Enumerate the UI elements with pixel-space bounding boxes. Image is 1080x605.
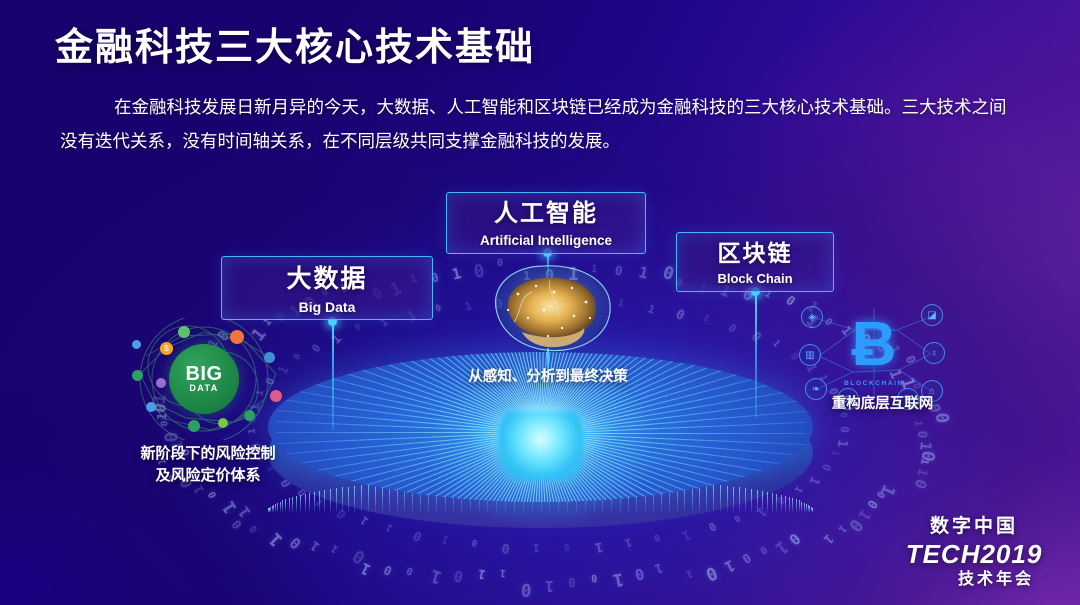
disc-rim-tick [806, 504, 807, 512]
binary-digit: 1 [916, 440, 935, 451]
logo-line2: TECH2019 [894, 539, 1054, 569]
disc-rim-tick [789, 497, 790, 512]
binary-digit: 0 [673, 307, 687, 324]
binary-digit: 1 [821, 531, 837, 547]
binary-digit: 1 [476, 567, 486, 583]
binary-digit: 0 [353, 323, 364, 334]
page-title: 金融科技三大核心技术基础 [55, 16, 535, 71]
card-blockchain-title: 区块链 [677, 242, 833, 265]
caption-bigdata: 新阶段下的风险控制 及风险定价体系 [104, 443, 312, 487]
binary-digit: 0 [837, 426, 850, 433]
card-ai-title: 人工智能 [447, 202, 645, 226]
disc-rim-tick [285, 499, 286, 512]
blockchain-icon-cluster: Ƀ BLOCKCHAIN ◈ ◪ ▥ ♁ ❧ ⌂ ⚖ ☻ [793, 300, 955, 408]
binary-digit: 1 [450, 265, 463, 285]
disc-rim-tick [751, 489, 752, 512]
disc-rim-tick [336, 488, 337, 512]
binary-digit: 1 [428, 565, 444, 587]
card-artificial-intelligence[interactable]: 人工智能 Artificial Intelligence [446, 192, 646, 254]
card-big-data-title: 大数据 [222, 267, 432, 292]
event-logo: 数字中国 TECH2019 技术年会 [894, 515, 1054, 591]
caption-ai: 从感知、分析到最终决策 [428, 366, 668, 388]
disc-rim-tick [324, 490, 325, 512]
binary-digit: 1 [835, 523, 847, 535]
binary-digit: 1 [876, 481, 899, 499]
binary-digit: 0 [702, 562, 720, 585]
binary-digit: 1 [684, 568, 694, 580]
bigdata-node-dot [188, 420, 200, 432]
disc-rim-tick [330, 489, 331, 512]
caption-bigdata-line2: 及风险定价体系 [104, 465, 312, 487]
binary-digit: 1 [915, 467, 932, 479]
disc-rim-tick [354, 486, 355, 512]
binary-digit: 1 [770, 339, 781, 350]
body-paragraph: 在金融科技发展日新月异的今天，大数据、人工智能和区块链已经成为金融科技的三大核心… [60, 90, 1022, 158]
binary-digit: 1 [637, 263, 650, 283]
bigdata-node-dot [132, 370, 143, 381]
disc-rim-tick [801, 502, 802, 512]
binary-digit: 1 [855, 506, 875, 524]
binary-digit: 0 [520, 578, 532, 599]
disc-rim-tick [296, 496, 297, 512]
disc-rim-tick [804, 503, 805, 512]
binary-digit: 1 [722, 556, 738, 576]
disc-rim-tick [757, 490, 758, 512]
disc-rim-tick [305, 494, 306, 512]
disc-rim-tick [776, 494, 777, 512]
disc-rim-tick [796, 499, 797, 512]
binary-digit: 1 [646, 302, 657, 316]
bigdata-node-dot [230, 330, 244, 344]
binary-digit: 0 [591, 572, 598, 584]
logo-line3: 技术年会 [938, 569, 1054, 591]
binary-digit: 1 [913, 420, 924, 426]
binary-digit: 1 [235, 503, 255, 521]
disc-rim-tick [368, 484, 369, 512]
binary-digit: 0 [865, 498, 882, 512]
disc-rim-tick [292, 497, 293, 512]
binary-digit: 0 [406, 564, 416, 576]
caption-blockchain: 重构底层互联网 [800, 393, 965, 415]
bigdata-node-dot [132, 340, 141, 349]
card-ai-subtitle: Artificial Intelligence [447, 234, 645, 248]
binary-digit: 1 [829, 450, 840, 458]
card-big-data[interactable]: 大数据 Big Data [221, 256, 433, 320]
binary-digit: 0 [915, 430, 930, 438]
bigdata-node-chart [244, 410, 255, 421]
disc-rim-tick [772, 493, 773, 512]
binary-digit: 0 [819, 462, 833, 473]
binary-digit: 0 [248, 523, 260, 535]
disc-rim-tick [781, 495, 782, 512]
disc-rim-tick [314, 492, 315, 512]
binary-digit: 1 [612, 568, 626, 590]
disc-rim-tick [767, 492, 768, 512]
card-big-data-subtitle: Big Data [222, 300, 432, 314]
binary-digit: 1 [219, 497, 242, 516]
bigdata-node-dot [264, 352, 275, 363]
bigdata-icon-cluster: BIG DATA $ [126, 318, 296, 440]
blockchain-node-network-icon: ◈ [801, 306, 823, 328]
disc-rim-tick [720, 485, 721, 512]
disc-rim-tick [309, 493, 310, 512]
disc-rim-tick [289, 498, 290, 512]
slide-canvas: 1010110100101101001011010010110100101101… [0, 0, 1080, 605]
disc-rim-tick [799, 500, 800, 512]
disc-rim-tick [745, 488, 746, 512]
disc-rim-tick [319, 491, 320, 512]
blockchain-label: BLOCKCHAIN [831, 380, 917, 387]
bigdata-node-dot [178, 326, 190, 338]
binary-digit: 1 [918, 457, 930, 465]
disc-rim-tick [792, 498, 793, 512]
binary-digit: 1 [545, 577, 554, 595]
bigdata-badge-line2: DATA [189, 383, 218, 393]
binary-digit: 0 [381, 562, 394, 579]
binary-digit: 1 [653, 560, 665, 577]
disc-rim-tick [277, 503, 278, 512]
card-block-chain[interactable]: 区块链 Block Chain [676, 232, 834, 292]
bigdata-badge-line1: BIG [185, 365, 222, 383]
disc-rim-tick [361, 485, 362, 512]
connector-line-bigdata [332, 322, 334, 430]
bigdata-node-dot [218, 418, 228, 428]
binary-digit: 0 [844, 515, 866, 536]
binary-digit: 0 [873, 489, 886, 499]
disc-rim-tick [282, 500, 283, 512]
blockchain-node-bank-icon: ▥ [799, 344, 821, 366]
bigdata-badge: BIG DATA [169, 344, 239, 414]
bitcoin-b-glyph: Ƀ [845, 308, 903, 382]
disc-rim-tick [280, 502, 281, 512]
blockchain-node-hand-icon: ♁ [923, 342, 945, 364]
connector-line-blockchain [755, 292, 757, 418]
binary-digit: 0 [633, 565, 646, 585]
binary-digit: 0 [452, 566, 465, 586]
bigdata-node-dot [146, 402, 156, 412]
ai-brain-illustration [478, 258, 626, 362]
binary-digit: 0 [910, 477, 930, 492]
binary-digit: 0 [725, 321, 738, 335]
disc-rim-tick [785, 496, 786, 512]
binary-digit: 1 [357, 559, 373, 579]
disc-rim-tick [275, 504, 276, 512]
binary-digit: 1 [701, 313, 711, 324]
binary-digit: 0 [206, 490, 219, 500]
binary-digit: 1 [463, 299, 473, 313]
disc-rim-tick [762, 491, 763, 512]
binary-digit: 0 [660, 263, 676, 285]
disc-rim-tick [713, 484, 714, 512]
binary-digit: 0 [228, 517, 244, 532]
bigdata-node-lock [270, 390, 282, 402]
blockchain-node-chart-icon: ◪ [921, 304, 943, 326]
binary-digit: 1 [834, 438, 850, 448]
binary-digit: 0 [568, 575, 576, 590]
bigdata-node-image [156, 378, 166, 388]
binary-digit: 0 [917, 449, 939, 463]
disc-rim-tick [739, 487, 740, 512]
card-blockchain-subtitle: Block Chain [677, 272, 833, 285]
caption-bigdata-line1: 新阶段下的风险控制 [104, 443, 312, 465]
binary-digit: 1 [500, 567, 507, 579]
bigdata-node-currency: $ [160, 342, 173, 355]
logo-line1: 数字中国 [894, 515, 1054, 539]
disc-rim-tick [273, 505, 274, 512]
binary-digit: 0 [434, 303, 443, 314]
disc-rim-tick [300, 495, 301, 512]
disc-core [498, 411, 584, 481]
